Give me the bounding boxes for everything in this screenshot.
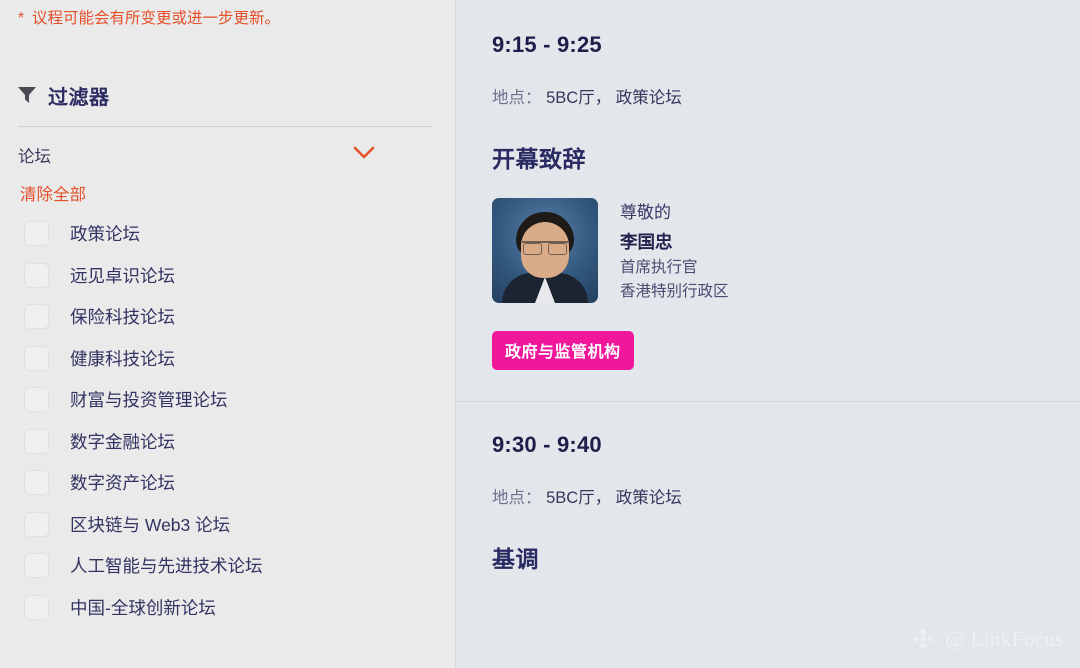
session-time: 9:30 - 9:40 (492, 432, 1044, 458)
filter-group-forum[interactable]: 论坛 (12, 127, 439, 167)
agenda-list: 9:15 - 9:25 地点： 5BC厅， 政策论坛 开幕致辞 尊敬的 李国忠 … (456, 0, 1080, 668)
checkbox[interactable] (24, 553, 49, 578)
list-item[interactable]: 政策论坛 (12, 213, 439, 255)
binance-diamond-icon (910, 626, 936, 652)
session-venue: 地点： 5BC厅， 政策论坛 (492, 84, 1044, 108)
clear-all-button[interactable]: 清除全部 (12, 167, 86, 205)
checkbox-label: 数字金融论坛 (70, 429, 175, 454)
checkbox-label: 政策论坛 (70, 221, 140, 246)
asterisk-icon: * (18, 8, 24, 31)
list-item[interactable]: 中国-全球创新论坛 (12, 586, 439, 628)
status-badge[interactable]: 政府与监管机构 (492, 331, 634, 370)
list-item[interactable]: 财富与投资管理论坛 (12, 379, 439, 421)
list-item[interactable]: 区块链与 Web3 论坛 (12, 503, 439, 545)
list-item[interactable]: 数字资产论坛 (12, 462, 439, 504)
avatar (492, 198, 598, 303)
funnel-icon (18, 87, 36, 103)
session-card[interactable]: 9:30 - 9:40 地点： 5BC厅， 政策论坛 基调 (456, 402, 1080, 574)
tag-row: 政府与监管机构 (492, 331, 1044, 370)
speaker-organization: 香港特别行政区 (620, 280, 729, 304)
forum-checkbox-list: 政策论坛 远见卓识论坛 保险科技论坛 健康科技论坛 财富与投资管理论坛 数字金融… (12, 213, 439, 628)
list-item[interactable]: 健康科技论坛 (12, 337, 439, 379)
checkbox[interactable] (24, 470, 49, 495)
list-item[interactable]: 数字金融论坛 (12, 420, 439, 462)
session-venue-value: 5BC厅， 政策论坛 (546, 489, 682, 507)
checkbox[interactable] (24, 595, 49, 620)
agenda-change-notice-text: 议程可能会有所变更或进一步更新。 (32, 8, 280, 31)
checkbox[interactable] (24, 304, 49, 329)
checkbox[interactable] (24, 512, 49, 537)
session-venue-label: 地点： (492, 489, 542, 507)
checkbox[interactable] (24, 263, 49, 288)
speaker[interactable]: 尊敬的 李国忠 首席执行官 香港特别行政区 (492, 198, 1044, 304)
checkbox-label: 健康科技论坛 (70, 346, 175, 371)
list-item[interactable]: 保险科技论坛 (12, 296, 439, 338)
checkbox-label: 中国-全球创新论坛 (70, 595, 216, 620)
list-item[interactable]: 远见卓识论坛 (12, 254, 439, 296)
session-venue-value: 5BC厅， 政策论坛 (546, 89, 682, 107)
checkbox[interactable] (24, 221, 49, 246)
session-card[interactable]: 9:15 - 9:25 地点： 5BC厅， 政策论坛 开幕致辞 尊敬的 李国忠 … (456, 0, 1080, 370)
session-time: 9:15 - 9:25 (492, 32, 1044, 58)
session-venue: 地点： 5BC厅， 政策论坛 (492, 484, 1044, 508)
checkbox-label: 数字资产论坛 (70, 470, 175, 495)
speaker-info: 尊敬的 李国忠 首席执行官 香港特别行政区 (620, 198, 729, 304)
session-title: 基调 (492, 540, 1044, 574)
checkbox-label: 人工智能与先进技术论坛 (70, 553, 263, 578)
session-venue-label: 地点： (492, 89, 542, 107)
checkbox-label: 远见卓识论坛 (70, 263, 175, 288)
session-title: 开幕致辞 (492, 140, 1044, 174)
checkbox-label: 保险科技论坛 (70, 304, 175, 329)
filter-title: 过滤器 (48, 81, 110, 110)
filter-header: 过滤器 (12, 81, 439, 110)
filter-sidebar: * 议程可能会有所变更或进一步更新。 过滤器 论坛 清除全部 (0, 0, 456, 668)
chevron-down-icon[interactable] (353, 146, 433, 164)
speaker-name: 李国忠 (620, 228, 729, 256)
checkbox[interactable] (24, 387, 49, 412)
filter-group-label: 论坛 (18, 143, 51, 167)
checkbox-label: 区块链与 Web3 论坛 (70, 512, 230, 537)
speaker-role: 首席执行官 (620, 256, 729, 280)
watermark: @ LinkFocus (910, 626, 1064, 652)
list-item[interactable]: 人工智能与先进技术论坛 (12, 545, 439, 587)
agenda-page: * 议程可能会有所变更或进一步更新。 过滤器 论坛 清除全部 (0, 0, 1080, 668)
watermark-text: @ LinkFocus (945, 627, 1064, 652)
checkbox-label: 财富与投资管理论坛 (70, 387, 228, 412)
agenda-change-notice: * 议程可能会有所变更或进一步更新。 (12, 0, 282, 31)
checkbox[interactable] (24, 346, 49, 371)
speaker-honorific: 尊敬的 (620, 200, 729, 226)
checkbox[interactable] (24, 429, 49, 454)
